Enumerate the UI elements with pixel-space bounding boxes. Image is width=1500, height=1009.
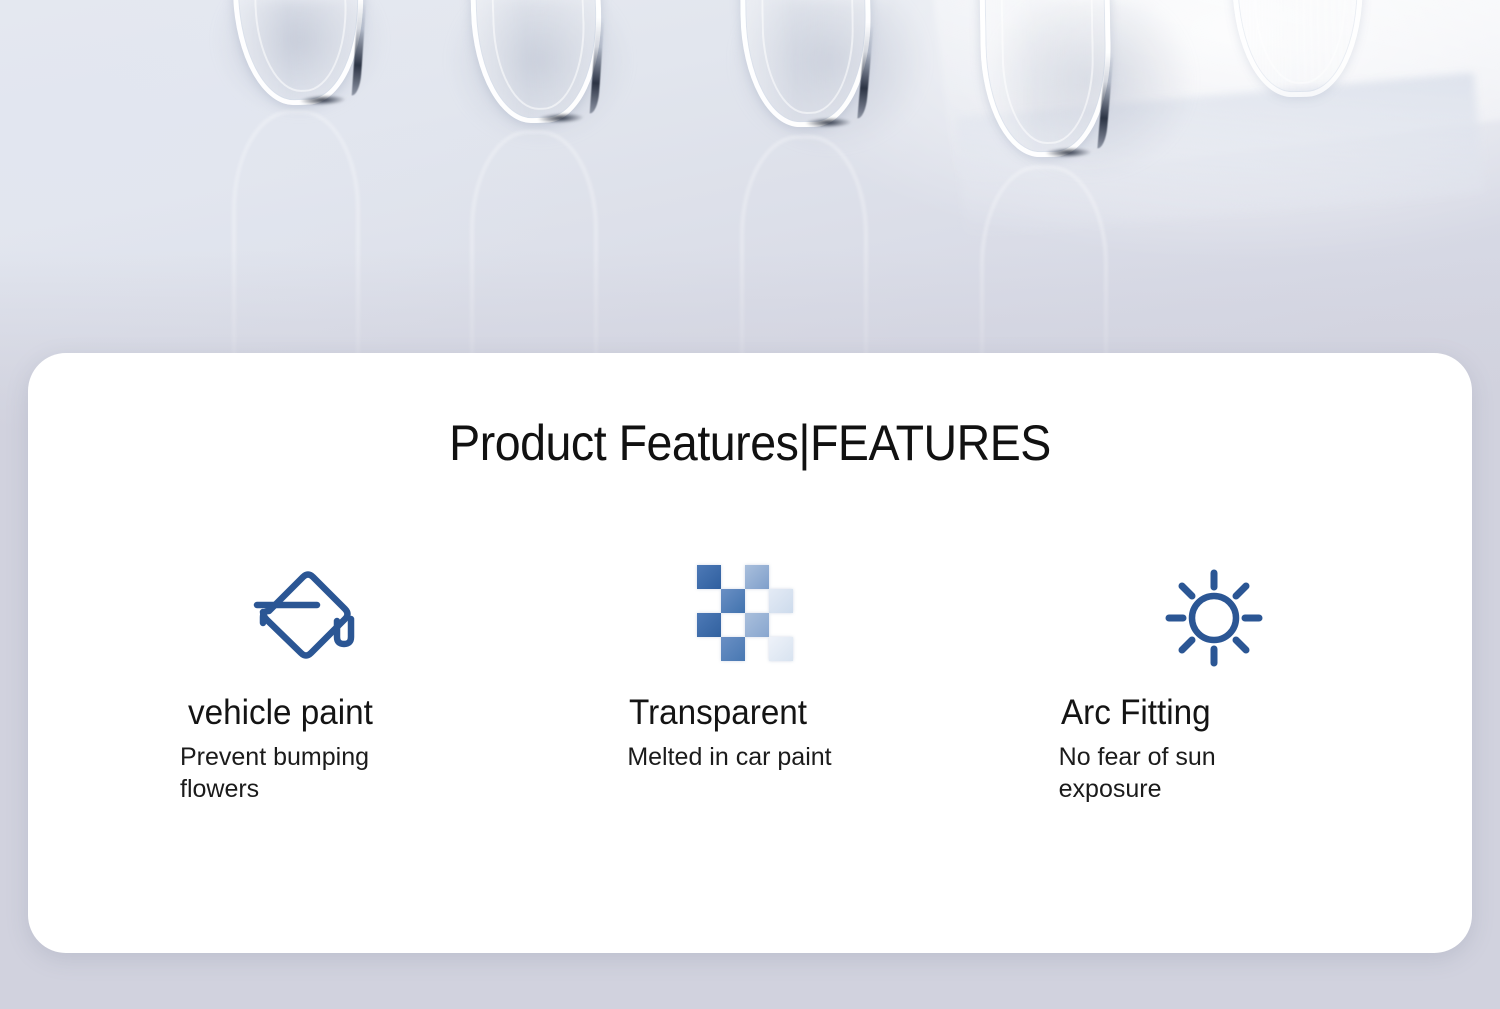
checker-cell	[697, 565, 721, 589]
checker-cell-empty	[697, 589, 721, 613]
checker-cell	[721, 637, 745, 661]
sun-icon	[1156, 565, 1276, 670]
product-feature-banner: Product Features|FEATURES	[0, 0, 1500, 1009]
feature-title: vehicle paint	[188, 693, 373, 733]
transparency-checkerboard-icon	[697, 565, 817, 670]
checker-cell	[769, 637, 793, 661]
features-card: Product Features|FEATURES	[28, 353, 1472, 953]
feature-item-arc-fitting: Arc Fitting No fear of sun exposure	[991, 565, 1472, 845]
page-title: Product Features|FEATURES	[79, 417, 1422, 470]
strip-inner-edge	[760, 0, 856, 115]
checker-cell-empty	[769, 565, 793, 589]
strip-inner-edge	[488, 0, 587, 111]
checker-cell-empty	[697, 637, 721, 661]
feature-subtitle: No fear of sun exposure	[1059, 741, 1289, 805]
feature-item-vehicle-paint: vehicle paint Prevent bumping flowers	[28, 565, 509, 845]
checker-cell-empty	[721, 565, 745, 589]
checker-cell	[745, 613, 769, 637]
feature-title: Arc Fitting	[1061, 693, 1211, 733]
features-row: vehicle paint Prevent bumping flowers	[28, 565, 1472, 845]
checker-cell-empty	[745, 637, 769, 661]
paint-bucket-icon	[245, 565, 365, 670]
checker-cell	[769, 589, 793, 613]
checker-cell-empty	[721, 613, 745, 637]
checker-cell	[745, 565, 769, 589]
checker-cell-empty	[745, 589, 769, 613]
checkerboard-grid	[697, 565, 793, 661]
feature-item-transparent: Transparent Melted in car paint	[509, 565, 990, 845]
strip-inner-edge	[1000, 0, 1096, 145]
strip-inner-edge	[1252, 0, 1348, 85]
feature-subtitle: Melted in car paint	[627, 741, 857, 773]
checker-cell	[697, 613, 721, 637]
feature-title: Transparent	[629, 693, 807, 733]
checker-cell	[721, 589, 745, 613]
feature-subtitle: Prevent bumping flowers	[180, 741, 410, 805]
checker-cell-empty	[769, 613, 793, 637]
strip-inner-edge	[250, 0, 349, 93]
